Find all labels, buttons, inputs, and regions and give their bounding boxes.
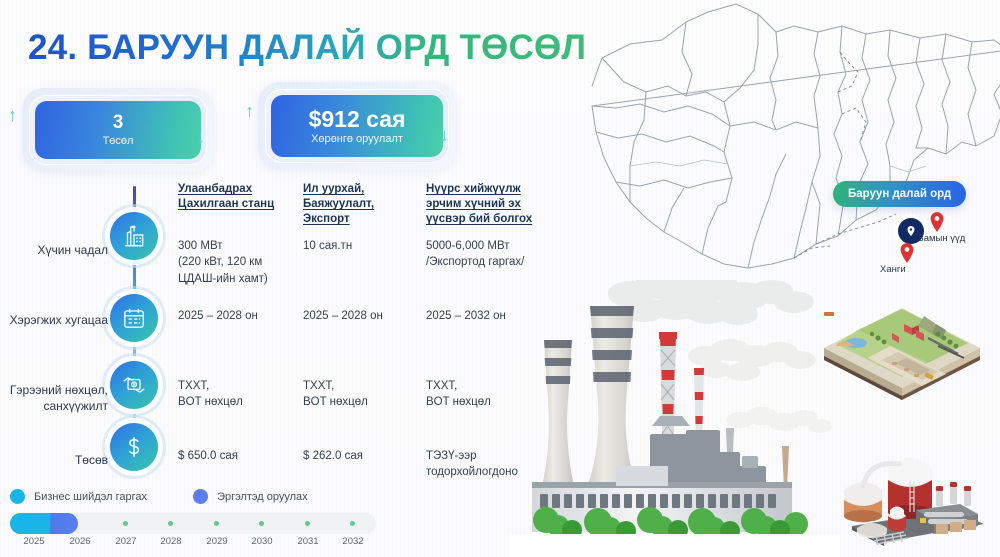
timeline-year: 2030 bbox=[251, 536, 272, 547]
table-cell: 5000-6,000 МВт /Экспортод гаргах/ bbox=[426, 238, 556, 271]
timeline-year: 2032 bbox=[342, 536, 363, 547]
timeline-year: 2026 bbox=[69, 536, 90, 547]
legend-dot-icon bbox=[193, 489, 208, 504]
mongolia-map-background bbox=[590, 0, 1000, 296]
open-pit-mine-illustration bbox=[818, 300, 986, 408]
page-title: 24. БАРУУН ДАЛАЙ ОРД ТӨСӨЛ bbox=[28, 28, 586, 68]
arrow-up-icon: ↑ bbox=[8, 106, 17, 124]
timeline-marker bbox=[123, 521, 128, 526]
kpi-value: $912 сая bbox=[309, 107, 406, 131]
map-pin-label: Ханги bbox=[880, 264, 906, 275]
row-label: Хэрэгжих хугацаа bbox=[0, 312, 108, 328]
arrow-down-icon: ↓ bbox=[196, 128, 205, 146]
refinery-tanks-illustration bbox=[832, 438, 990, 553]
table-row: Хэрэгжих хугацаа 2025 – 2028 он 2025 – 2… bbox=[0, 308, 560, 378]
legend-item-commissioning: Эргэлтэд оруулах bbox=[193, 489, 308, 504]
legend-label: Бизнес шийдэл гаргах bbox=[34, 491, 147, 503]
kpi-label: Хөрөнгө оруулалт bbox=[311, 133, 403, 145]
timeline-fill bbox=[10, 513, 78, 534]
table-cell: $ 262.0 сая bbox=[303, 448, 421, 464]
table-cell: 10 сая.тн bbox=[303, 238, 421, 254]
power-plant-illustration bbox=[510, 280, 840, 557]
timeline-track[interactable] bbox=[10, 513, 376, 534]
map-pin-zamyn-uud-icon bbox=[930, 212, 944, 232]
kpi-card-investment: $912 сая Хөрөнгө оруулалт bbox=[258, 82, 456, 170]
table-row: Гэрээний нөхцөл, санхүүжилт ТXXТ, BOT нө… bbox=[0, 378, 560, 448]
timeline-year: 2028 bbox=[160, 536, 181, 547]
legend-dot-icon bbox=[10, 489, 25, 504]
kpi-card-projects: 3 Төсөл bbox=[22, 88, 214, 172]
timeline-marker bbox=[214, 521, 219, 526]
table-row: Хүчин чадал 300 МВт (220 кВт, 120 км ЦДА… bbox=[0, 238, 560, 308]
table-cell: 2025 – 2028 он bbox=[178, 308, 298, 324]
timeline-year: 2029 bbox=[206, 536, 227, 547]
table-row: Төсөв $ 650.0 сая $ 262.0 сая ТЭЗҮ-ээр т… bbox=[0, 448, 560, 518]
timeline-year: 2025 bbox=[23, 536, 44, 547]
table-cell: ТXXТ, BOT нөхцөл bbox=[178, 378, 298, 411]
kpi-card-body: $912 сая Хөрөнгө оруулалт bbox=[271, 95, 443, 157]
timeline-year-labels: 2025 2026 2027 2028 2029 2030 2031 2032 bbox=[10, 536, 376, 552]
row-label: Төсөв bbox=[0, 452, 108, 468]
table-cell: $ 650.0 сая bbox=[178, 448, 298, 464]
kpi-card-body: 3 Төсөл bbox=[35, 101, 201, 159]
row-label: Гэрээний нөхцөл, санхүүжилт bbox=[0, 382, 108, 414]
kpi-halo-outer: 3 Төсөл bbox=[22, 88, 214, 172]
kpi-label: Төсөл bbox=[103, 135, 134, 147]
table-rows: Хүчин чадал 300 МВт (220 кВт, 120 км ЦДА… bbox=[0, 238, 560, 518]
kpi-halo-outer: $912 сая Хөрөнгө оруулалт bbox=[258, 82, 456, 170]
column-header-3: Нүүрс хийжүүлж эрчим хүчний эх үүсвэр би… bbox=[426, 182, 551, 228]
kpi-halo-inner: $912 сая Хөрөнгө оруулалт bbox=[265, 89, 449, 163]
map-pin-label: Замын үүд bbox=[918, 233, 965, 244]
table-cell: 2025 – 2028 он bbox=[303, 308, 421, 324]
timeline-year: 2027 bbox=[115, 536, 136, 547]
timeline-marker bbox=[168, 521, 173, 526]
timeline-marker bbox=[350, 521, 355, 526]
map-pin-hangi-icon bbox=[900, 243, 914, 263]
arrow-down-icon: ↓ bbox=[440, 126, 449, 144]
table-cell: ТXXТ, BOT нөхцөл bbox=[303, 378, 421, 411]
row-label: Хүчин чадал bbox=[0, 242, 108, 258]
projects-table: Улаанбадрах Цахилгаан станц Ил уурхай, Б… bbox=[0, 182, 560, 518]
legend-label: Эргэлтэд оруулах bbox=[217, 491, 308, 503]
column-header-1: Улаанбадрах Цахилгаан станц bbox=[178, 182, 296, 212]
timeline-year: 2031 bbox=[297, 536, 318, 547]
timeline-marker bbox=[305, 521, 310, 526]
legend: Бизнес шийдэл гаргах Эргэлтэд оруулах bbox=[10, 489, 308, 504]
column-header-2: Ил уурхай, Баяжуулалт, Экспорт bbox=[303, 182, 415, 228]
table-column-headers: Улаанбадрах Цахилгаан станц Ил уурхай, Б… bbox=[0, 182, 560, 238]
table-cell: 300 МВт (220 кВт, 120 км ЦДАШ-ийн хамт) bbox=[178, 238, 298, 287]
legend-item-business-decision: Бизнес шийдэл гаргах bbox=[10, 489, 147, 504]
map-callout-label: Баруун далай орд bbox=[833, 181, 966, 207]
kpi-value: 3 bbox=[113, 113, 124, 133]
arrow-up-icon: ↑ bbox=[245, 102, 254, 120]
slide-canvas: 24. БАРУУН ДАЛАЙ ОРД ТӨСӨЛ 3 Төсөл ↑ ↓ $… bbox=[0, 0, 1000, 557]
timeline-marker bbox=[259, 521, 264, 526]
timeline: 2025 2026 2027 2028 2029 2030 2031 2032 bbox=[10, 513, 376, 552]
kpi-halo-inner: 3 Төсөл bbox=[29, 95, 207, 165]
